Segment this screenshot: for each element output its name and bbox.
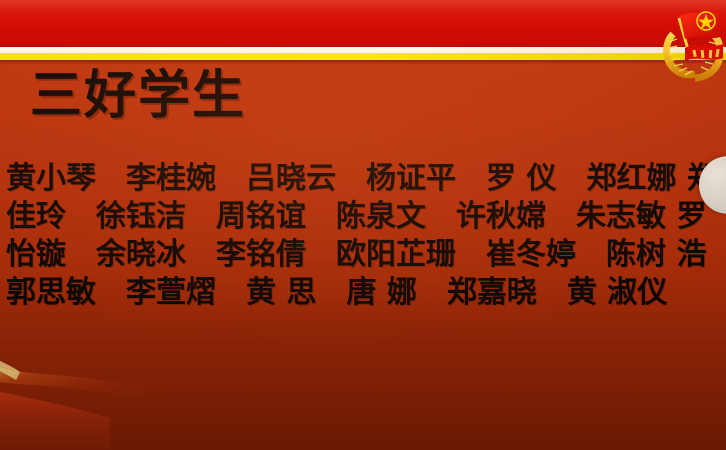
divider-rule-shadow (0, 60, 726, 64)
divider-rule-yellow (0, 53, 726, 60)
banner-sheen (0, 0, 726, 18)
name-line: 黄小琴 李桂婉 吕晓云 杨证平 罗 仪 郑红娜 (6, 161, 676, 196)
top-banner (0, 0, 726, 47)
student-name-list: 黄小琴 李桂婉 吕晓云 杨证平 罗 仪 郑红娜 郑佳玲 徐钰洁 周铭谊 陈泉文 … (6, 160, 720, 312)
name-line: 淑仪 (607, 275, 667, 310)
decorative-ribbon (0, 346, 250, 450)
slide-title: 三好学生 (30, 70, 246, 122)
presentation-slide: 三好学生 黄小琴 李桂婉 吕晓云 杨证平 罗 仪 郑红娜 郑佳玲 徐钰洁 周铭谊… (0, 0, 726, 450)
communist-youth-league-emblem (655, 2, 725, 88)
